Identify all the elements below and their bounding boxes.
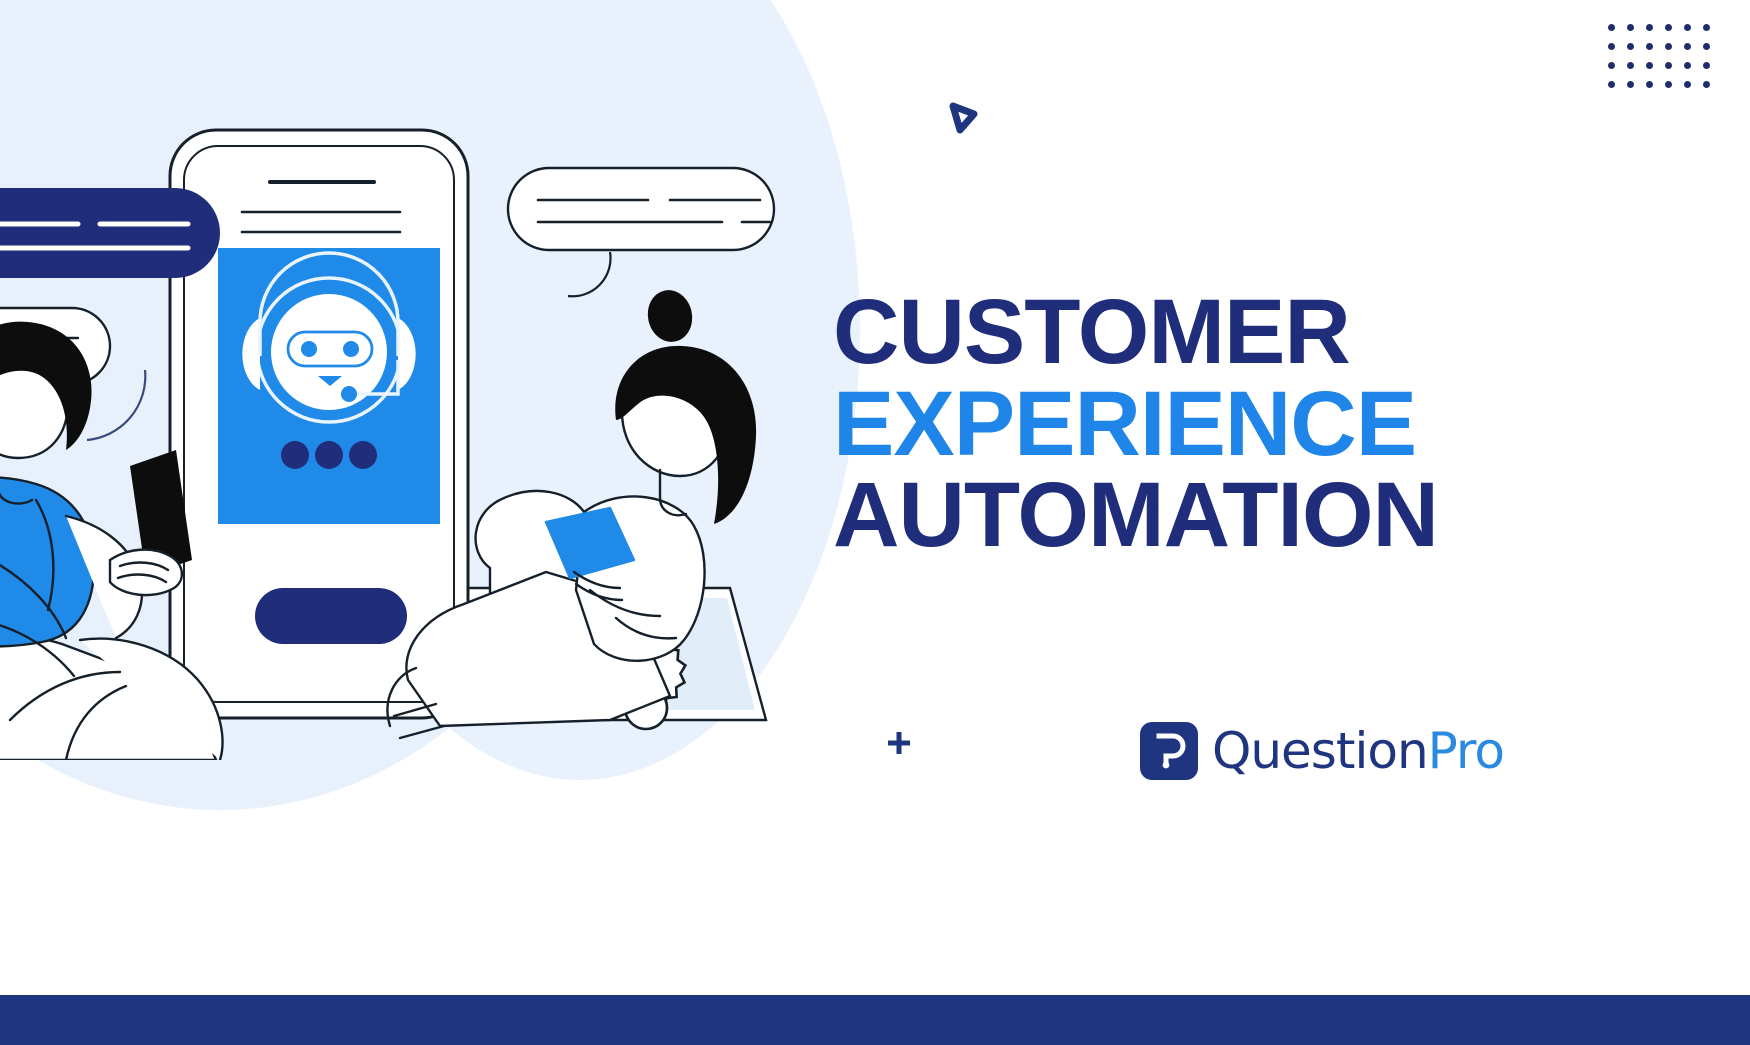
headline-line-3: AUTOMATION [833, 473, 1483, 559]
logo-text-pro: Pro [1428, 722, 1504, 780]
questionpro-logo-text: QuestionPro [1212, 722, 1504, 780]
dot-grid-decoration [1608, 24, 1722, 100]
headline-line-2: EXPERIENCE [833, 382, 1483, 468]
poster-canvas: CUSTOMER EXPERIENCE AUTOMATION QuestionP… [0, 0, 1750, 1045]
headline: CUSTOMER EXPERIENCE AUTOMATION [833, 290, 1483, 559]
hero-illustration [0, 120, 790, 760]
plus-icon [884, 728, 914, 758]
bottom-accent-bar [0, 995, 1750, 1045]
typing-dots [281, 441, 377, 469]
questionpro-logo-mark [1140, 722, 1198, 780]
chat-bubble-navy [0, 188, 220, 278]
play-triangle-icon [940, 96, 984, 140]
chat-bubble-outline-right [508, 168, 774, 296]
logo-text-question: Question [1212, 722, 1428, 780]
questionpro-logo[interactable]: QuestionPro [1140, 722, 1504, 780]
headline-line-1: CUSTOMER [833, 290, 1483, 376]
